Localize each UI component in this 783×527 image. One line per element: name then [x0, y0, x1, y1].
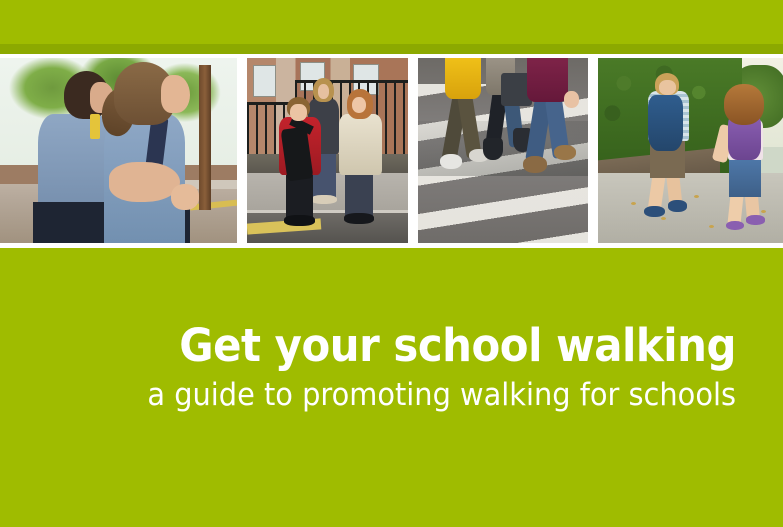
- photo-4-scene: [598, 58, 783, 243]
- lanyard: [90, 114, 99, 140]
- purple-jacket: [527, 58, 568, 102]
- photo-children-walking-past-hedge: [598, 58, 783, 243]
- page-title: Get your school walking: [52, 323, 736, 368]
- girl-hair: [724, 84, 765, 125]
- window: [253, 65, 276, 97]
- photo-teenagers-with-backpacks: [0, 58, 237, 243]
- girl-shoe: [746, 215, 765, 224]
- page-subtitle: a guide to promoting walking for schools: [52, 380, 736, 411]
- girl-shoe: [726, 221, 745, 230]
- boy-blue-backpack: [648, 95, 683, 151]
- girl-jeans: [729, 156, 760, 197]
- photo-2-scene: [247, 58, 408, 243]
- girl-hand: [171, 184, 199, 210]
- adult-shoes: [311, 195, 337, 204]
- top-green-band: [0, 0, 783, 44]
- boy-shoe: [644, 206, 664, 217]
- fallen-leaf: [694, 195, 699, 198]
- girl-legs: [345, 171, 372, 217]
- boy-face: [290, 104, 306, 121]
- person-c-shoe: [554, 145, 576, 160]
- photo-3-scene: [418, 58, 588, 243]
- title-block: Get your school walking a guide to promo…: [0, 323, 736, 411]
- person-c-shoe: [523, 156, 547, 173]
- yellow-jacket: [445, 58, 481, 99]
- boy-head: [659, 80, 676, 95]
- top-green-band-dark-stripe: [0, 44, 783, 54]
- girl-arm: [109, 162, 180, 203]
- adult-face: [318, 84, 329, 99]
- fallen-leaf: [761, 210, 766, 213]
- person-b-boot: [483, 138, 503, 160]
- photo-adult-and-children-on-pavement: [247, 58, 408, 243]
- girl-cream-coat: [339, 114, 382, 175]
- photo-legs-on-zebra-crossing: [418, 58, 588, 243]
- girl-shoes: [344, 213, 375, 224]
- fallen-leaf: [709, 225, 714, 228]
- photo-strip: [0, 58, 783, 243]
- title-panel: Get your school walking a guide to promo…: [0, 248, 783, 527]
- girl-face: [161, 75, 189, 114]
- person-c-hand: [564, 91, 579, 108]
- wooden-post: [199, 65, 211, 209]
- cover-page: Get your school walking a guide to promo…: [0, 0, 783, 527]
- photo-1-scene: [0, 58, 237, 243]
- boy-shoes: [284, 215, 315, 226]
- person-a-shoe: [440, 154, 462, 169]
- boy-shoe: [668, 200, 687, 211]
